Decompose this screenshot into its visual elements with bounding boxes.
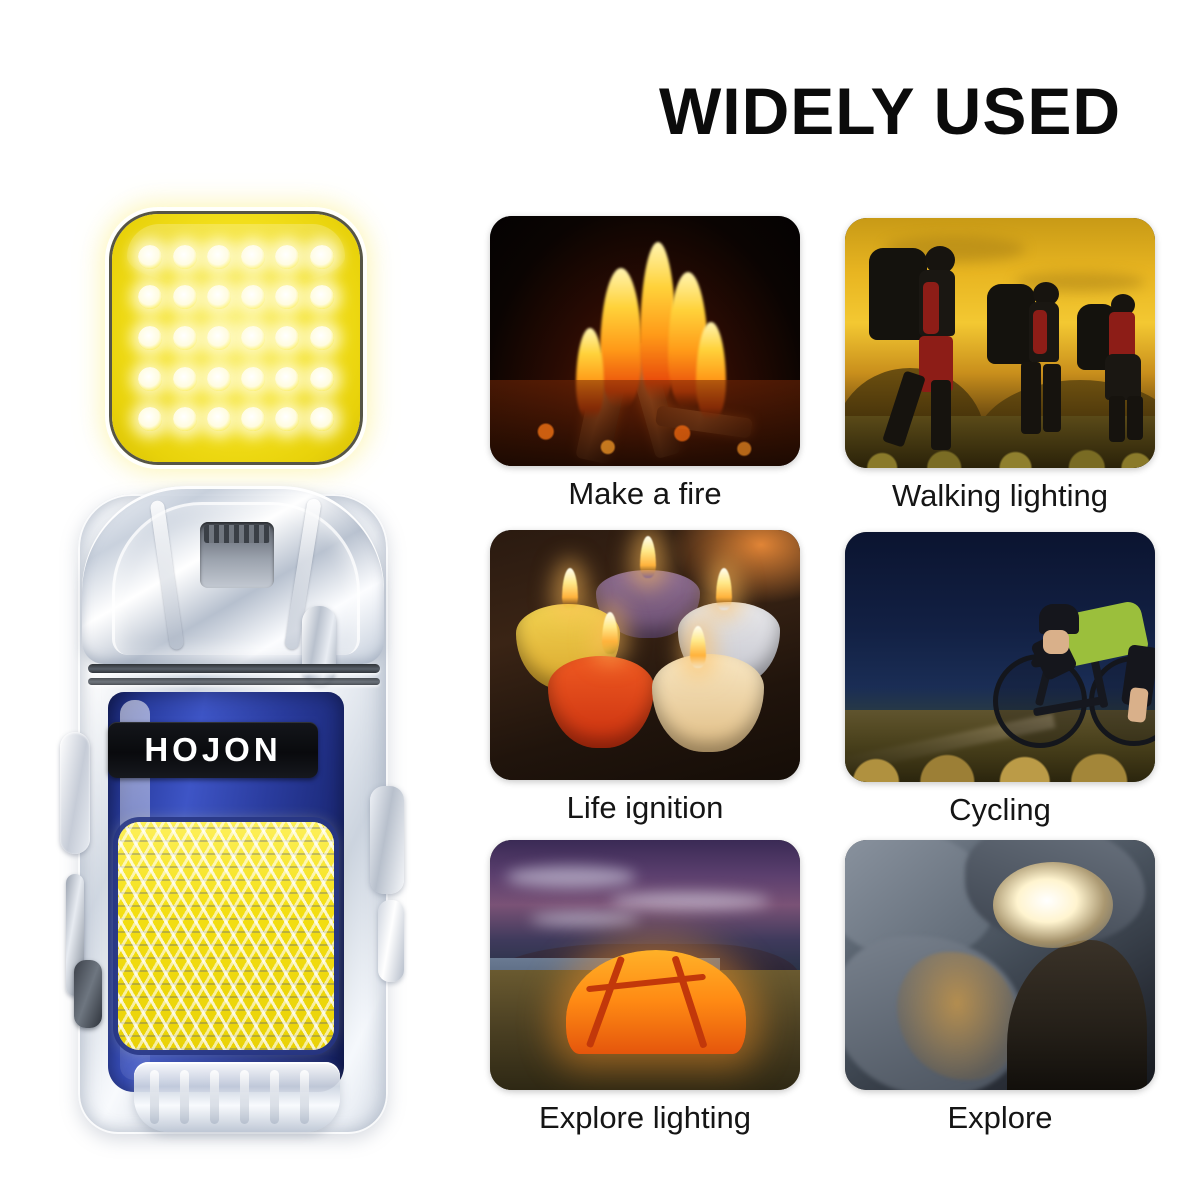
led-dot: [241, 285, 265, 309]
cave-scene: [845, 840, 1155, 1090]
hiker: [1077, 290, 1155, 440]
seal-ring: [88, 678, 380, 685]
candle-red: [548, 656, 654, 748]
led-dot: [138, 245, 162, 269]
base-rib: [150, 1070, 159, 1124]
led-dot: [138, 326, 162, 350]
use-case-caption: Explore: [845, 1100, 1155, 1136]
cyclist-calf: [1127, 687, 1148, 723]
led-dot: [241, 367, 265, 391]
use-case-image-cave: [845, 840, 1155, 1090]
base-rib: [210, 1070, 219, 1124]
led-dot: [207, 367, 231, 391]
leg: [1043, 364, 1061, 432]
side-button: [60, 732, 90, 854]
led-dot: [310, 285, 334, 309]
led-dot: [275, 285, 299, 309]
cob-texture: [118, 822, 334, 1050]
led-dot: [241, 407, 265, 431]
led-dot: [207, 326, 231, 350]
use-case-caption: Life ignition: [490, 790, 800, 826]
cloud: [610, 892, 770, 910]
cave-light-source: [993, 862, 1113, 948]
led-dot: [173, 367, 197, 391]
use-case-card-explore-lighting[interactable]: Explore lighting: [490, 840, 800, 1136]
candle-flame: [562, 568, 578, 610]
camping-tent-scene: [490, 840, 800, 1090]
led-dot: [138, 407, 162, 431]
use-case-image-hikers: [845, 218, 1155, 468]
cloud: [506, 866, 636, 888]
use-case-image-tent: [490, 840, 800, 1090]
leg: [931, 380, 951, 450]
base-rib: [180, 1070, 189, 1124]
led-dot: [310, 407, 334, 431]
use-case-card-life-ignition[interactable]: Life ignition: [490, 530, 800, 826]
led-dot: [241, 326, 265, 350]
use-case-caption: Walking lighting: [845, 478, 1155, 514]
cyclist-face: [1043, 630, 1069, 654]
hiker: [987, 276, 1083, 442]
use-case-grid: Make a fire: [480, 208, 1190, 1168]
backpack: [987, 284, 1035, 364]
use-case-image-candles: [490, 530, 800, 780]
led-dot: [310, 326, 334, 350]
led-dot-grid: [133, 236, 339, 439]
led-dot: [173, 285, 197, 309]
right-hinge: [378, 900, 404, 982]
cob-light-panel: [118, 822, 334, 1050]
base-rib: [270, 1070, 279, 1124]
night-cycling-scene: [845, 532, 1155, 782]
lighter-product-image: HOJON: [34, 486, 444, 1156]
led-dot: [138, 367, 162, 391]
leg: [1127, 396, 1143, 440]
brand-name: HOJON: [144, 731, 281, 769]
use-case-image-campfire: [490, 216, 800, 466]
right-lug: [370, 786, 404, 894]
embers: [490, 380, 800, 466]
led-dot: [207, 407, 231, 431]
use-case-card-walking-lighting[interactable]: Walking lighting: [845, 218, 1155, 514]
hikers-sunset-scene: [845, 218, 1155, 468]
led-dot: [173, 245, 197, 269]
use-case-card-cycling[interactable]: Cycling: [845, 532, 1155, 828]
led-dot: [207, 245, 231, 269]
use-case-card-explore[interactable]: Explore: [845, 840, 1155, 1136]
page-title: WIDELY USED: [600, 78, 1180, 144]
leg: [882, 370, 926, 447]
candles-scene: [490, 530, 800, 780]
led-dot: [173, 326, 197, 350]
use-case-caption: Make a fire: [490, 476, 800, 512]
cave-tunnel: [1007, 940, 1147, 1090]
led-dot: [275, 326, 299, 350]
led-dot: [275, 367, 299, 391]
cloud: [530, 912, 640, 926]
burner-teeth: [204, 525, 270, 543]
use-case-image-cyclist: [845, 532, 1155, 782]
lighter-base: [134, 1062, 340, 1132]
arc-burner: [200, 522, 274, 588]
lighter-cap: [82, 486, 384, 664]
base-rib: [300, 1070, 309, 1124]
use-case-caption: Explore lighting: [490, 1100, 800, 1136]
led-dot: [207, 285, 231, 309]
led-dot: [138, 285, 162, 309]
led-light-panel: [112, 214, 360, 462]
use-case-card-make-a-fire[interactable]: Make a fire: [490, 216, 800, 512]
torso: [1105, 354, 1141, 400]
led-dot: [173, 407, 197, 431]
red-jacket: [1033, 310, 1047, 354]
brand-label: HOJON: [108, 722, 318, 778]
led-dot: [275, 407, 299, 431]
candle-cream: [652, 654, 764, 752]
led-dot: [241, 245, 265, 269]
seal-ring: [88, 664, 380, 673]
led-dot: [275, 245, 299, 269]
led-dot: [310, 245, 334, 269]
side-tab: [74, 960, 102, 1028]
campfire-scene: [490, 216, 800, 466]
candle-flame: [640, 536, 656, 578]
leg: [1109, 396, 1125, 442]
leg: [1021, 362, 1041, 434]
red-jacket: [923, 282, 939, 334]
base-rib: [240, 1070, 249, 1124]
use-case-caption: Cycling: [845, 792, 1155, 828]
hiker: [867, 240, 977, 448]
led-dot: [310, 367, 334, 391]
